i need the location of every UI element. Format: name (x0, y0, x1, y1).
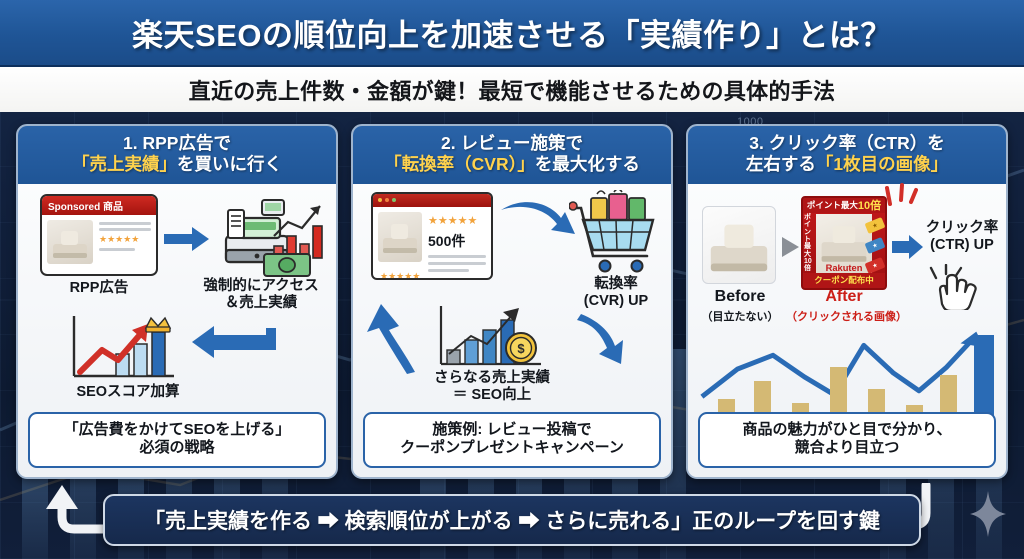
footer-banner: 「売上実績を作る ➡ 検索順位が上がる ➡ さらに売れる」正のループを回す鍵 (103, 494, 921, 546)
panel-3-note: 商品の魅力がひと目で分かり、 競合より目立つ (698, 412, 996, 469)
panel-1-note-l2: 必須の戦略 (34, 439, 320, 458)
sub-header: 直近の売上件数・金額が鍵！最短で機能させるための具体的手法 (0, 67, 1024, 112)
label-forced-access-l1: 強制的にアクセス (203, 278, 318, 294)
label-ctr-up-l1: クリック率 (926, 220, 999, 236)
review-stars-top: ★★★★★ (428, 214, 486, 227)
panel-1-title-line1: 1. RPP広告で (24, 133, 330, 154)
sales-growth-chart-icon: $ (429, 302, 559, 374)
label-ctr-up-l2: (CTR) UP (930, 237, 994, 253)
label-forced-access-l2: ＆売上実績 (225, 295, 298, 311)
rakuten-points-number: 10倍 (858, 197, 881, 213)
label-more-sales: さらなる売上実績 ＝ SEO向上 (397, 370, 587, 405)
panel-3-header: 3. クリック率（CTR）を 左右する「1枚目の画像」 (688, 126, 1006, 184)
page-title: 楽天SEOの順位向上を加速させる「実績作り」とは？ (132, 10, 892, 55)
label-forced-access: 強制的にアクセス ＆売上実績 (186, 278, 336, 313)
panel-1-title-line2: 「売上実績」を買いに行く (24, 154, 330, 175)
panel-1-header: 1. RPP広告で 「売上実績」を買いに行く (18, 126, 336, 184)
panel-3-title-highlight: 「1枚目の画像」 (816, 154, 948, 174)
product-thumbnail (47, 220, 93, 264)
panel-rpp-ads[interactable]: 1. RPP広告で 「売上実績」を買いに行く Sponsored 商品 (16, 124, 338, 479)
cash-register-icon (214, 192, 332, 280)
browser-titlebar (373, 194, 491, 207)
page-subtitle: 直近の売上件数・金額が鍵！最短で機能させるための具体的手法 (189, 74, 836, 106)
ad-star-rating: ★★★★★ (99, 234, 151, 245)
panel-row: 1. RPP広告で 「売上実績」を買いに行く Sponsored 商品 (16, 124, 1008, 479)
panel-2-title-highlight: 「転換率（CVR）」 (384, 154, 535, 174)
arrow-curve-right (499, 200, 577, 252)
arrow-curve-down (575, 312, 631, 366)
after-sublabel: （クリックされる画像） (786, 308, 904, 324)
chair-icon (378, 212, 422, 262)
after-label: After (798, 288, 890, 306)
sparkle-diamond-icon (970, 491, 1006, 537)
panel-3-title-line2: 左右する「1枚目の画像」 (694, 154, 1000, 175)
panel-3-growth-chart (696, 329, 998, 421)
crown-icon (146, 318, 170, 332)
rakuten-points-text: ポイント最大 (807, 199, 858, 211)
panel-1-note-l1: 「広告費をかけてSEOを上げる」 (34, 421, 320, 440)
label-cvr-up: 転換率 (CVR) UP (563, 276, 669, 311)
arrow-curve-up (365, 302, 423, 374)
after-product-photo: Rakuten (816, 214, 872, 273)
arrow-right-blue (164, 226, 210, 252)
seo-score-chart-icon (64, 310, 186, 386)
panel-2-note-l1: 施策例: レビュー投稿で (369, 421, 655, 440)
panel-2-body: ★★★★★ 500件 ★★★★★ (353, 184, 671, 477)
panel-1-note: 「広告費をかけてSEOを上げる」 必須の戦略 (28, 412, 326, 469)
infographic-root: 1000 楽天SEOの順位向上を加速させる「実績作り」とは？ 直近の売上件数・金… (0, 0, 1024, 559)
panel-1-body: Sponsored 商品 ★★★★★ (18, 184, 336, 477)
label-cvr-up-l1: 転換率 (594, 276, 638, 292)
after-rakuten-ad-image: ポイント最大10倍 ポイント最大10倍 Rakuten ★ ★ ★ (801, 196, 887, 290)
panel-3-note-l2: 競合より目立つ (704, 439, 990, 458)
before-product-image (702, 206, 776, 284)
panel-2-header: 2. レビュー施策で 「転換率（CVR）」を最大化する (353, 126, 671, 184)
review-browser-card[interactable]: ★★★★★ 500件 ★★★★★ (371, 192, 493, 280)
main-header: 楽天SEOの順位向上を加速させる「実績作り」とは？ (0, 0, 1024, 67)
panel-2-title-line2: 「転換率（CVR）」を最大化する (359, 154, 665, 175)
ad-text-lines: ★★★★★ (99, 220, 151, 264)
rakuten-coupon-banner: クーポン配布中 (803, 273, 885, 288)
svg-text:Rakuten: Rakuten (826, 263, 863, 273)
panel-2-title-line1: 2. レビュー施策で (359, 133, 665, 154)
panel-2-title-rest: を最大化する (535, 154, 640, 174)
loop-arrow-up (38, 483, 110, 545)
panel-3-note-l1: 商品の魅力がひと目で分かり、 (704, 421, 990, 440)
review-product-thumbnail (378, 212, 422, 262)
panel-ctr-image[interactable]: 3. クリック率（CTR）を 左右する「1枚目の画像」 ポイント最大1 (686, 124, 1008, 479)
panel-3-title-rest: 左右する (746, 154, 816, 174)
label-more-sales-l1: さらなる売上実績 (434, 370, 550, 386)
review-count: 500件 (428, 231, 486, 251)
review-stars-bottom: ★★★★★ (373, 271, 491, 280)
chair-icon: Rakuten (816, 214, 872, 273)
sponsored-ad-card[interactable]: Sponsored 商品 ★★★★★ (40, 194, 158, 276)
label-seo-score: SEOスコア加算 (48, 384, 208, 401)
label-cvr-up-l2: (CVR) UP (584, 293, 648, 309)
sponsored-badge: Sponsored 商品 (42, 196, 156, 215)
cursor-click-icon (928, 264, 984, 310)
panel-review-cvr[interactable]: 2. レビュー施策で 「転換率（CVR）」を最大化する (351, 124, 673, 479)
chair-icon (47, 220, 93, 264)
panel-2-note: 施策例: レビュー投稿で クーポンプレゼントキャンペーン (363, 412, 661, 469)
arrow-left-blue (190, 324, 276, 368)
panel-2-note-l2: クーポンプレゼントキャンペーン (369, 439, 655, 458)
panel-1-title-rest: を買いに行く (177, 154, 282, 174)
panel-1-title-highlight: 「売上実績」 (72, 154, 177, 174)
arrow-right-gray (782, 236, 800, 258)
label-more-sales-l2: ＝ SEO向上 (453, 387, 531, 403)
panel-3-body: ポイント最大10倍 ポイント最大10倍 Rakuten ★ ★ ★ (688, 184, 1006, 477)
label-rpp-ads: RPP広告 (40, 280, 158, 297)
before-sublabel: （目立たない） (694, 308, 786, 324)
panel-3-title-line1: 3. クリック率（CTR）を (694, 133, 1000, 154)
label-ctr-up: クリック率 (CTR) UP (916, 220, 1008, 255)
svg-text:$: $ (517, 341, 525, 356)
chair-icon (703, 207, 775, 283)
sparkle-lines-icon (884, 182, 918, 210)
rakuten-points-side: ポイント最大10倍 (804, 214, 816, 273)
footer-text: 「売上実績を作る ➡ 検索順位が上がる ➡ さらに売れる」正のループを回す鍵 (144, 505, 880, 535)
before-label: Before (698, 288, 782, 306)
rakuten-points-top: ポイント最大10倍 (803, 198, 885, 213)
shopping-cart-icon (569, 190, 663, 276)
